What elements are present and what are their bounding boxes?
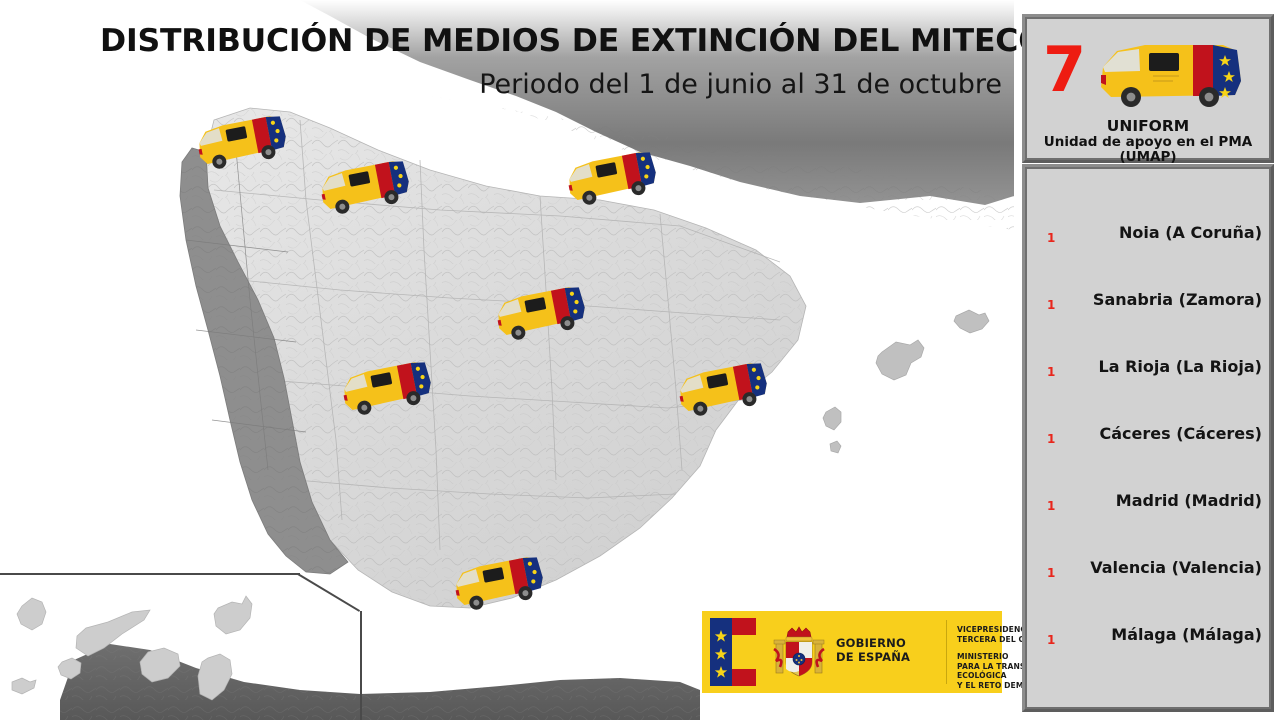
resource-name: UNIFORM [1025,117,1271,135]
map-balearic-islands [823,310,989,453]
gobierno-de-espana-label: GOBIERNO DE ESPAÑA [836,637,932,664]
location-label: Sanabria (Zamora) [1093,290,1262,309]
location-row[interactable]: 1Noia (A Coruña) [1025,209,1271,276]
location-label: Málaga (Málaga) [1111,625,1262,644]
location-row[interactable]: 1La Rioja (La Rioja) [1025,343,1271,410]
location-row[interactable]: 1Sanabria (Zamora) [1025,276,1271,343]
resource-description-line-1: Unidad de apoyo en el PMA [1025,135,1271,150]
locations-list: 1Noia (A Coruña)1Sanabria (Zamora)1La Ri… [1025,167,1271,709]
location-count: 1 [1047,633,1055,647]
location-count: 1 [1047,365,1055,379]
location-row[interactable]: 1Madrid (Madrid) [1025,477,1271,544]
resource-count: 7 [1043,39,1086,101]
marker-valencia[interactable] [673,358,773,420]
infographic-root: DISTRIBUCIÓN DE MEDIOS DE EXTINCIÓN DEL … [0,0,1280,720]
marker-caceres[interactable] [337,357,437,419]
location-label: Cáceres (Cáceres) [1100,424,1262,443]
resource-description: Unidad de apoyo en el PMA (UMAP) [1025,135,1271,165]
page-subtitle: Periodo del 1 de junio al 31 de octubre [260,69,1002,100]
canary-islands-inset-frame [0,573,370,720]
location-row[interactable]: 1Valencia (Valencia) [1025,544,1271,611]
spain-eu-flag-icon [710,618,756,686]
location-row[interactable]: 1Cáceres (Cáceres) [1025,410,1271,477]
location-count: 1 [1047,231,1055,245]
marker-sanabria[interactable] [315,156,415,218]
location-count: 1 [1047,566,1055,580]
location-row[interactable]: 1Málaga (Málaga) [1025,611,1271,678]
location-label: Noia (A Coruña) [1119,223,1262,242]
resource-description-line-2: (UMAP) [1025,150,1271,165]
location-label: La Rioja (La Rioja) [1099,357,1262,376]
location-count: 1 [1047,499,1055,513]
location-count: 1 [1047,432,1055,446]
van-icon [1097,31,1247,111]
location-label: Valencia (Valencia) [1090,558,1262,577]
location-count: 1 [1047,298,1055,312]
page-title: DISTRIBUCIÓN DE MEDIOS DE EXTINCIÓN DEL … [100,23,1010,59]
logo-divider [946,620,947,684]
resource-summary-panel: 7 UNIFORM Unidad de ap [1022,14,1274,163]
marker-malaga[interactable] [449,552,549,614]
marker-la-rioja[interactable] [562,147,662,209]
locations-panel: 1Noia (A Coruña)1Sanabria (Zamora)1La Ri… [1022,164,1274,712]
gobierno-line-1: GOBIERNO [836,637,932,651]
marker-madrid[interactable] [491,282,591,344]
location-label: Madrid (Madrid) [1116,491,1262,510]
gobierno-line-2: DE ESPAÑA [836,651,932,665]
government-logo: GOBIERNO DE ESPAÑA VICEPRESIDENCIA TERCE… [702,611,1002,693]
coat-of-arms-icon [768,621,830,683]
marker-noia[interactable] [192,111,292,173]
